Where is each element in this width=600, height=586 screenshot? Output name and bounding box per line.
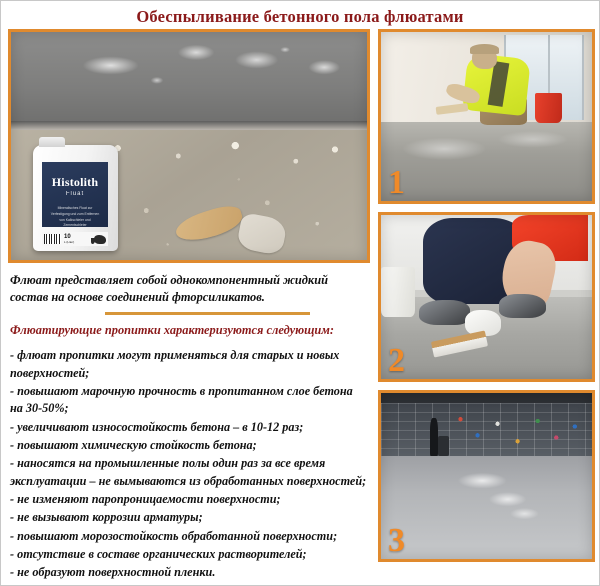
list-item: - не образуют поверхностной пленки.	[10, 564, 368, 581]
aggregate-stone-tan	[172, 201, 245, 246]
red-bucket	[535, 93, 562, 123]
left-column: Histolith Fluat Mineralisches Fluat zur …	[8, 29, 370, 581]
hero-photo-concrete-cross-section: Histolith Fluat Mineralisches Fluat zur …	[8, 29, 370, 263]
step-badge-1: 1	[388, 166, 405, 200]
bottle-label-footer: 10 L (Liter)	[42, 232, 108, 246]
page-title: Обеспыливание бетонного пола флюатами	[1, 1, 599, 32]
white-pail	[381, 267, 415, 316]
feature-list: - флюат пропитки могут применяться для с…	[10, 347, 368, 581]
product-description: Mineralisches Fluat zur Verfestigung und…	[42, 206, 108, 227]
step-photo-3: 3	[378, 390, 595, 562]
product-bottle: Histolith Fluat Mineralisches Fluat zur …	[33, 145, 118, 251]
section-subheading: Флюатирующие пропитки характеризуются сл…	[10, 322, 368, 339]
elephant-logo-icon	[94, 235, 106, 244]
content-columns: Histolith Fluat Mineralisches Fluat zur …	[1, 29, 600, 585]
product-volume-unit: L (Liter)	[64, 240, 74, 244]
list-item: - повышают марочную прочность в пропитан…	[10, 383, 368, 418]
step-photo-2: 2	[378, 212, 595, 382]
coated-floor	[381, 122, 592, 201]
product-volume: 10 L (Liter)	[64, 234, 74, 244]
list-item: - не изменяют паропроницаемости поверхно…	[10, 491, 368, 508]
text-block: Флюат представляет собой однокомпонентны…	[10, 272, 368, 583]
list-item: - повышают морозостойкость обработанной …	[10, 528, 368, 545]
warehouse-worker	[430, 418, 438, 456]
lead-paragraph: Флюат представляет собой однокомпонентны…	[10, 272, 368, 306]
section-divider	[105, 312, 310, 315]
list-item: - не вызывают коррозии арматуры;	[10, 509, 368, 526]
polished-concrete-floor	[381, 456, 592, 559]
barcode-icon	[44, 234, 61, 244]
list-item: - повышают химическую стойкость бетона;	[10, 437, 368, 454]
bottle-label: Histolith Fluat Mineralisches Fluat zur …	[42, 162, 108, 227]
list-item: - увеличивают износостойкость бетона – в…	[10, 419, 368, 436]
aggregate-stone-white	[236, 212, 288, 256]
hand-truck	[438, 436, 449, 456]
product-variant-name: Fluat	[42, 191, 108, 197]
bottle-cap	[39, 137, 65, 147]
list-item: - отсутствие в составе органических раст…	[10, 546, 368, 563]
product-brand-name: Histolith	[42, 175, 108, 190]
worker-cap	[470, 44, 500, 54]
list-item: - флюат пропитки могут применяться для с…	[10, 347, 368, 382]
step-photo-1: 1	[378, 29, 595, 204]
stored-goods	[449, 410, 592, 456]
right-column: 1 2	[378, 29, 595, 581]
step-badge-2: 2	[388, 344, 405, 378]
wet-concrete-surface	[11, 32, 367, 125]
list-item: - наносятся на промышленные полы один ра…	[10, 455, 368, 490]
step-badge-3: 3	[388, 524, 405, 558]
worker-shoe-right	[499, 294, 545, 319]
infographic-page: Обеспыливание бетонного пола флюатами	[0, 0, 600, 586]
worker-shoe-left	[419, 300, 470, 325]
